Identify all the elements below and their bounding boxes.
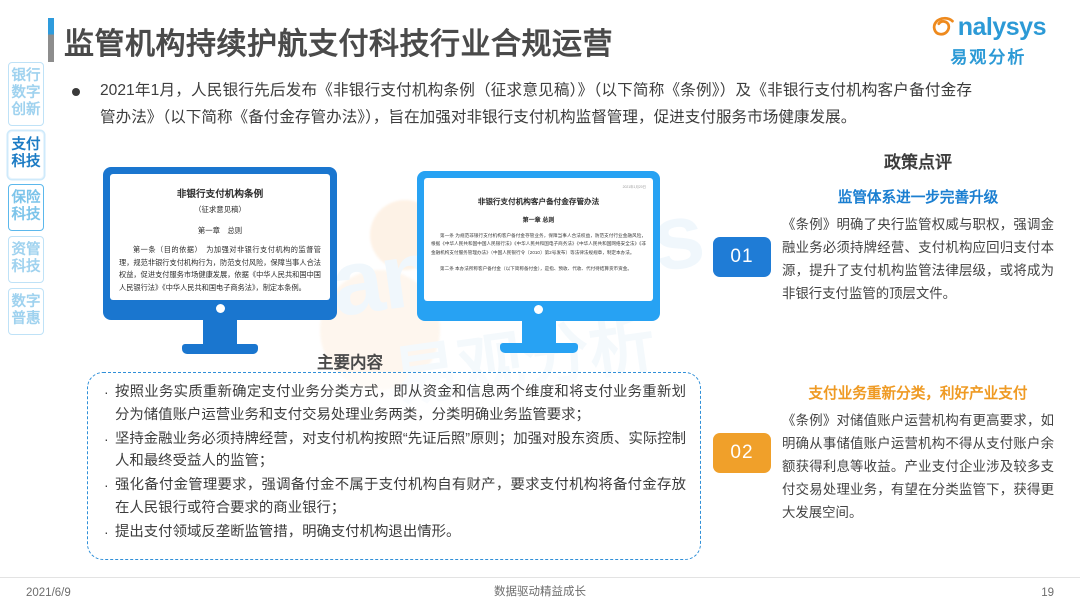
monitor-screen: 非银行支付机构条例 （征求意见稿） 第一章 总则 第一条（目的依据） 为加强对非… (110, 174, 330, 300)
document-page: 2021年1月20日 非银行支付机构客户备付金存管办法 第一章 总则 第一条 为… (424, 178, 653, 280)
analysys-swirl-icon (931, 14, 957, 40)
doc-title: 非银行支付机构客户备付金存管办法 (431, 196, 646, 207)
sidebar-item-asset-tech[interactable]: 资管科技 (8, 236, 44, 283)
commentary-title: 政策点评 (782, 148, 1054, 173)
commentary-body: 《条例》对储值账户运营机构有更高要求，如明确从事储值账户运营机构不得从支付账户余… (782, 409, 1054, 524)
monitor-power-dot-icon (534, 305, 543, 314)
main-content-item: · 按照业务实质重新确定支付业务分类方式，即从资金和信息两个维度和将支付业务重新… (104, 381, 686, 427)
doc-stamp: 2021年1月20日 (431, 184, 646, 189)
commentary-section-2: 支付业务重新分类，利好产业支付 《条例》对储值账户运营机构有更高要求，如明确从事… (782, 382, 1054, 524)
main-content-box: · 按照业务实质重新确定支付业务分类方式，即从资金和信息两个维度和将支付业务重新… (87, 372, 701, 560)
main-content-item-text: 按照业务实质重新确定支付业务分类方式，即从资金和信息两个维度和将支付业务重新划分… (115, 381, 686, 427)
intro-paragraph: 2021年1月，人民银行先后发布《非银行支付机构条例（征求意见稿）》（以下简称《… (72, 78, 972, 132)
main-content-item: · 坚持金融业务必须持牌经营，对支付机构按照“先证后照”原则；加强对股东资质、实… (104, 428, 686, 474)
step-badge-01: 01 (713, 237, 771, 277)
bullet-dot-icon: · (104, 521, 115, 543)
bullet-dot-icon: · (104, 428, 115, 450)
sidebar-item-label: 保险科技 (9, 190, 43, 224)
main-content-label: 主要内容 (0, 349, 700, 373)
logo-wordmark: nalysys (958, 14, 1046, 40)
sidebar-item-label: 银行数字创新 (9, 68, 43, 119)
sidebar-item-bank-digital[interactable]: 银行数字创新 (8, 62, 44, 126)
logo-chinese-name: 易观分析 (931, 43, 1046, 68)
commentary-body: 《条例》明确了央行监管权威与职权，强调金融业务必须持牌经营、支付机构应回归支付本… (782, 213, 1054, 305)
doc-body: 第一条（目的依据） 为加强对非银行支付机构的监督管理，规范非银行支付机构行为，防… (119, 244, 321, 294)
monitor-bezel: 2021年1月20日 非银行支付机构客户备付金存管办法 第一章 总则 第一条 为… (417, 171, 660, 321)
doc-chapter: 第一章 总则 (431, 215, 646, 224)
commentary-heading: 监管体系进一步完善升级 (782, 186, 1054, 207)
sidebar-item-insurance-tech[interactable]: 保险科技 (8, 184, 44, 231)
sidebar-item-digital-inclusive[interactable]: 数字普惠 (8, 288, 44, 335)
doc-title: 非银行支付机构条例 (119, 186, 321, 200)
step-badge-02: 02 (713, 433, 771, 473)
sidebar-item-label: 资管科技 (9, 242, 43, 276)
monitor-neck (522, 321, 556, 343)
doc-body: 第一条 为规范非银行支付机构客户备付金存管业务，保障当事人合法权益，防范支付行业… (431, 232, 646, 257)
commentary-heading: 支付业务重新分类，利好产业支付 (782, 382, 1054, 403)
sidebar-nav: 银行数字创新 支付科技 保险科技 资管科技 数字普惠 (8, 62, 44, 340)
footer-page-number: 19 (1041, 587, 1054, 599)
slide-canvas: analysys 易观分析 监管机构持续护航支付科技行业合规运营 nalysys… (0, 0, 1080, 608)
sidebar-item-label: 数字普惠 (9, 294, 43, 328)
doc-chapter: 第一章 总则 (119, 225, 321, 236)
monitor-regulation-draft: 非银行支付机构条例 （征求意见稿） 第一章 总则 第一条（目的依据） 为加强对非… (103, 167, 337, 354)
bullet-dot-icon: · (104, 474, 115, 496)
monitor-bezel: 非银行支付机构条例 （征求意见稿） 第一章 总则 第一条（目的依据） 为加强对非… (103, 167, 337, 320)
bullet-dot-icon: · (104, 381, 115, 403)
footer-divider (0, 577, 1080, 578)
doc-subtitle: （征求意见稿） (119, 204, 321, 215)
document-page: 非银行支付机构条例 （征求意见稿） 第一章 总则 第一条（目的依据） 为加强对非… (110, 174, 330, 300)
footer-slogan: 数据驱动精益成长 (0, 583, 1080, 599)
monitor-screen: 2021年1月20日 非银行支付机构客户备付金存管办法 第一章 总则 第一条 为… (424, 178, 653, 301)
monitor-power-dot-icon (216, 304, 225, 313)
main-content-item: · 提出支付领域反垄断监管措，明确支付机构退出情形。 (104, 521, 686, 544)
page-title: 监管机构持续护航支付科技行业合规运营 (64, 19, 613, 63)
main-content-item-text: 提出支付领域反垄断监管措，明确支付机构退出情形。 (115, 521, 686, 544)
brand-logo: nalysys 易观分析 (931, 12, 1046, 68)
commentary-section-1: 监管体系进一步完善升级 《条例》明确了央行监管权威与职权，强调金融业务必须持牌经… (782, 186, 1054, 305)
main-content-item-text: 坚持金融业务必须持牌经营，对支付机构按照“先证后照”原则；加强对股东资质、实际控… (115, 428, 686, 474)
title-accent-bar (48, 18, 54, 62)
bullet-dot-icon (72, 88, 80, 96)
main-content-item: · 强化备付金管理要求，强调备付金不属于支付机构自有财产，要求支付机构将备付金存… (104, 474, 686, 520)
main-content-item-text: 强化备付金管理要求，强调备付金不属于支付机构自有财产，要求支付机构将备付金存放在… (115, 474, 686, 520)
sidebar-item-label: 支付科技 (9, 137, 43, 171)
monitor-custody-measures: 2021年1月20日 非银行支付机构客户备付金存管办法 第一章 总则 第一条 为… (417, 171, 660, 353)
monitor-neck (203, 320, 237, 344)
doc-body-second: 第二条 本办法所称客户备付金（以下简称备付金），是指、预收、代收、代付待结算货币… (431, 265, 646, 273)
intro-text: 2021年1月，人民银行先后发布《非银行支付机构条例（征求意见稿）》（以下简称《… (100, 78, 972, 132)
sidebar-item-payment-tech[interactable]: 支付科技 (8, 131, 44, 178)
